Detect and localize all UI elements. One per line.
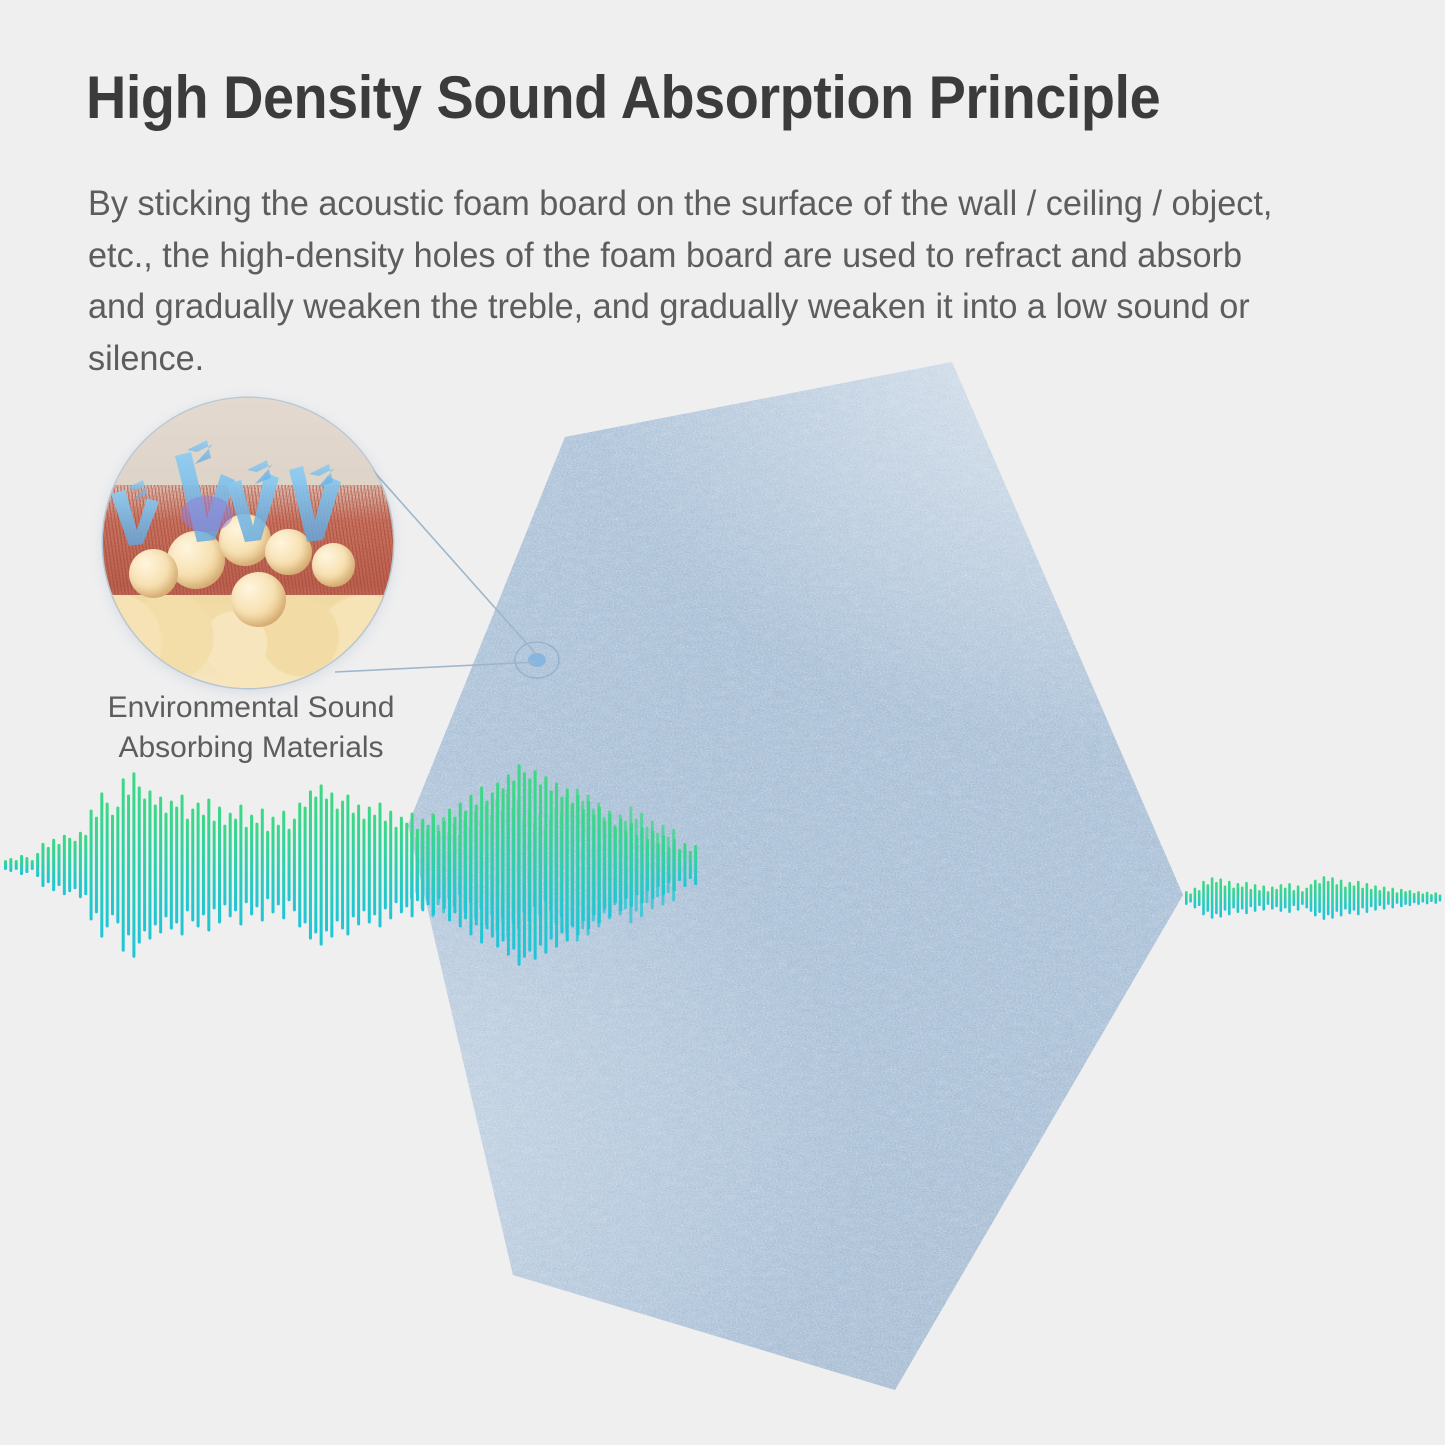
waveform-bar [1267,891,1270,905]
waveform-bar [426,829,429,902]
waveform-bar [330,792,333,937]
waveform-bar [1224,885,1227,910]
waveform-bar [651,821,654,910]
waveform-bar [293,819,296,912]
waveform-bar [116,807,119,924]
waveform-bar [592,809,595,922]
waveform-bar [1361,888,1364,909]
waveform-bar [613,825,616,906]
waveform-bar [362,819,365,912]
waveform-bar [1219,878,1222,917]
waveform-bar [1245,882,1248,914]
waveform-bar [1331,877,1334,918]
waveform-bar [1207,884,1210,912]
waveform-bar [603,817,606,914]
waveform-bar [1323,876,1326,920]
waveform-bar [207,798,210,931]
waveform-bar [148,790,151,939]
waveform-bar [298,803,301,928]
waveform-bar [447,831,450,900]
waveform-bar [63,835,66,895]
waveform-bar [202,815,205,916]
waveform-bar [309,790,312,939]
waveform-bar [1198,890,1201,906]
waveform-bar [656,833,659,898]
waveform-bar [608,811,611,920]
waveform-bar [95,817,98,914]
waveform-bar [1258,890,1261,906]
waveform-bar [159,796,162,933]
waveform-bar [1241,886,1244,909]
attenuated-sound-waveform [1183,838,1445,958]
waveform-bar [453,823,456,908]
waveform-bar [1275,889,1278,907]
waveform-bar [645,827,648,904]
waveform-bar [1297,885,1300,910]
waveform-bar [517,800,520,929]
waveform-bar [277,825,280,906]
waveform-bar [266,831,269,900]
waveform-bar [1396,892,1399,904]
waveform-bar [1215,882,1218,914]
waveform-bar [400,817,403,914]
waveform-bar [1318,883,1321,913]
waveform-bar [245,827,248,904]
waveform-bar [1426,892,1429,905]
waveform-bar [597,803,600,928]
waveform-bar [1293,890,1296,906]
waveform-bar [624,821,627,910]
waveform-bar [1232,888,1235,909]
waveform-bar [384,821,387,910]
waveform-bar [480,821,483,910]
waveform-bar [1374,885,1377,910]
waveform-bar [122,778,125,951]
waveform-bar [314,796,317,933]
waveform-bar [170,800,173,929]
waveform-bar [181,794,184,935]
waveform-bar [20,855,23,875]
waveform-bar [84,835,87,895]
waveform-bar [1185,891,1188,905]
waveform-bar [186,819,189,912]
waveform-bar [1327,881,1330,916]
waveform-bar [629,807,632,924]
waveform-bar [304,807,307,924]
waveform-bar [346,794,349,935]
waveform-bar [111,815,114,916]
waveform-bar [223,825,226,906]
waveform-bar [1189,893,1192,902]
waveform-bar [1370,889,1373,907]
waveform-bar [41,843,44,887]
waveform-bar [325,798,328,931]
waveform-bar [560,813,563,918]
waveform-bar [1383,886,1386,909]
waveform-bar [1280,884,1283,912]
waveform-bar [1357,881,1360,916]
waveform-bar [191,809,194,922]
waveform-bar [368,807,371,924]
waveform-bar [661,825,664,906]
waveform-bar [288,829,291,902]
waveform-bar [239,805,242,926]
waveform-bar [485,805,488,926]
waveform-bar [1271,886,1274,909]
waveform-bar [554,807,557,924]
waveform-bar [474,811,477,920]
waveform-bar [79,832,82,899]
waveform-bar [1202,881,1205,916]
waveform-bar [154,805,157,926]
waveform-bar [1409,890,1412,906]
waveform-bar [1254,884,1257,912]
waveform-bar [421,821,424,910]
waveform-bar [1387,891,1390,905]
waveform-bar [512,807,515,924]
waveform-bar [1439,895,1442,902]
waveform-bar [538,815,541,916]
waveform-bar [218,807,221,924]
waveform-bar [165,813,168,918]
waveform-bar [255,823,258,908]
waveform-bar [1348,882,1351,914]
waveform-bar [1340,880,1343,917]
waveform-bar [229,813,232,918]
waveform-bar [15,860,18,870]
waveform-bar [1310,884,1313,912]
inset-caption-line1: Environmental Sound [86,688,416,728]
waveform-bar [1301,891,1304,905]
waveform-bar [1422,893,1425,902]
waveform-bar [90,810,93,921]
waveform-bar [442,817,445,914]
waveform-bar [74,841,77,889]
waveform-bar [68,838,71,892]
waveform-bar [458,835,461,895]
waveform-bar [544,829,547,902]
waveform-bar [1336,884,1339,912]
waveform-bar [587,794,590,935]
waveform-bar [1211,877,1214,918]
infographic-page: High Density Sound Absorption Principle … [0,0,1445,1445]
waveform-bar [410,831,413,900]
waveform-bar [379,803,382,928]
waveform-bar [1344,886,1347,909]
inset-caption: Environmental Sound Absorbing Materials [86,688,416,768]
waveform-bar [522,817,525,914]
microstructure-inset [103,398,393,688]
waveform-bar [261,809,264,922]
waveform-bar [132,772,135,957]
waveform-bar [1391,888,1394,909]
waveform-bar [506,792,509,937]
waveform-bar [373,815,376,916]
waveform-bar [635,819,638,912]
waveform-bar [533,823,536,908]
waveform-bar [272,817,275,914]
waveform-bar [1353,885,1356,910]
waveform-bar [1228,881,1231,916]
callout-target-marker [513,636,561,684]
waveform-bar [341,800,344,929]
waveform-bar [415,837,418,893]
waveform-bar [1284,888,1287,909]
waveform-bar [576,788,579,941]
waveform-bar [1237,883,1240,913]
waveform-bar [106,803,109,928]
waveform-bar [549,819,552,912]
waveform-bar [47,847,50,883]
waveform-bar [138,786,141,943]
sound-arrow-icons [103,398,393,688]
waveform-bar [528,809,531,922]
waveform-bar [52,839,55,891]
waveform-bar [1366,883,1369,913]
waveform-bar [496,798,499,931]
waveform-bar [352,813,355,918]
waveform-bar [501,811,504,920]
waveform-bar [640,813,643,918]
waveform-bar [213,821,216,910]
waveform-bar [4,860,7,870]
waveform-bar [490,815,493,916]
waveform-bar [1430,894,1433,902]
waveform-bar [36,853,39,877]
waveform-bar [1434,892,1437,904]
waveform-bar [395,827,398,904]
waveform-bar [1262,885,1265,910]
waveform-bar [1404,891,1407,905]
waveform-bar [389,811,392,920]
waveform-over-panel [408,760,708,970]
waveform-bar [9,858,12,872]
waveform-bar [357,805,360,926]
waveform-bar [1417,891,1420,905]
waveform-bar [197,803,200,928]
waveform-bar [320,784,323,945]
waveform-bar [1288,883,1291,913]
waveform-bar [175,807,178,924]
waveform-bar [431,813,434,918]
waveform-bar [1413,893,1416,903]
waveform-bar [464,819,467,912]
waveform-bar [571,805,574,926]
waveform-bar [100,792,103,937]
waveform-bar [619,815,622,916]
waveform-bar [1379,890,1382,906]
waveform-bar [234,819,237,912]
waveform-bar [437,825,440,906]
waveform-bar [336,809,339,922]
waveform-bar [127,794,130,935]
waveform-bar [143,798,146,931]
waveform-bar [31,860,34,870]
waveform-bar [672,829,675,902]
waveform-bar [1194,888,1197,909]
waveform-bar [1400,889,1403,907]
waveform-bar [25,857,28,873]
waveform-bar [250,815,253,916]
waveform-bar [282,811,285,920]
waveform-bar [581,800,584,929]
waveform-bar [1305,888,1308,909]
waveform-bar [1250,889,1253,907]
waveform-bar [469,827,472,904]
waveform-bar [667,837,670,893]
waveform-bar [1314,880,1317,917]
waveform-bar [58,844,61,886]
waveform-bar [565,796,568,933]
